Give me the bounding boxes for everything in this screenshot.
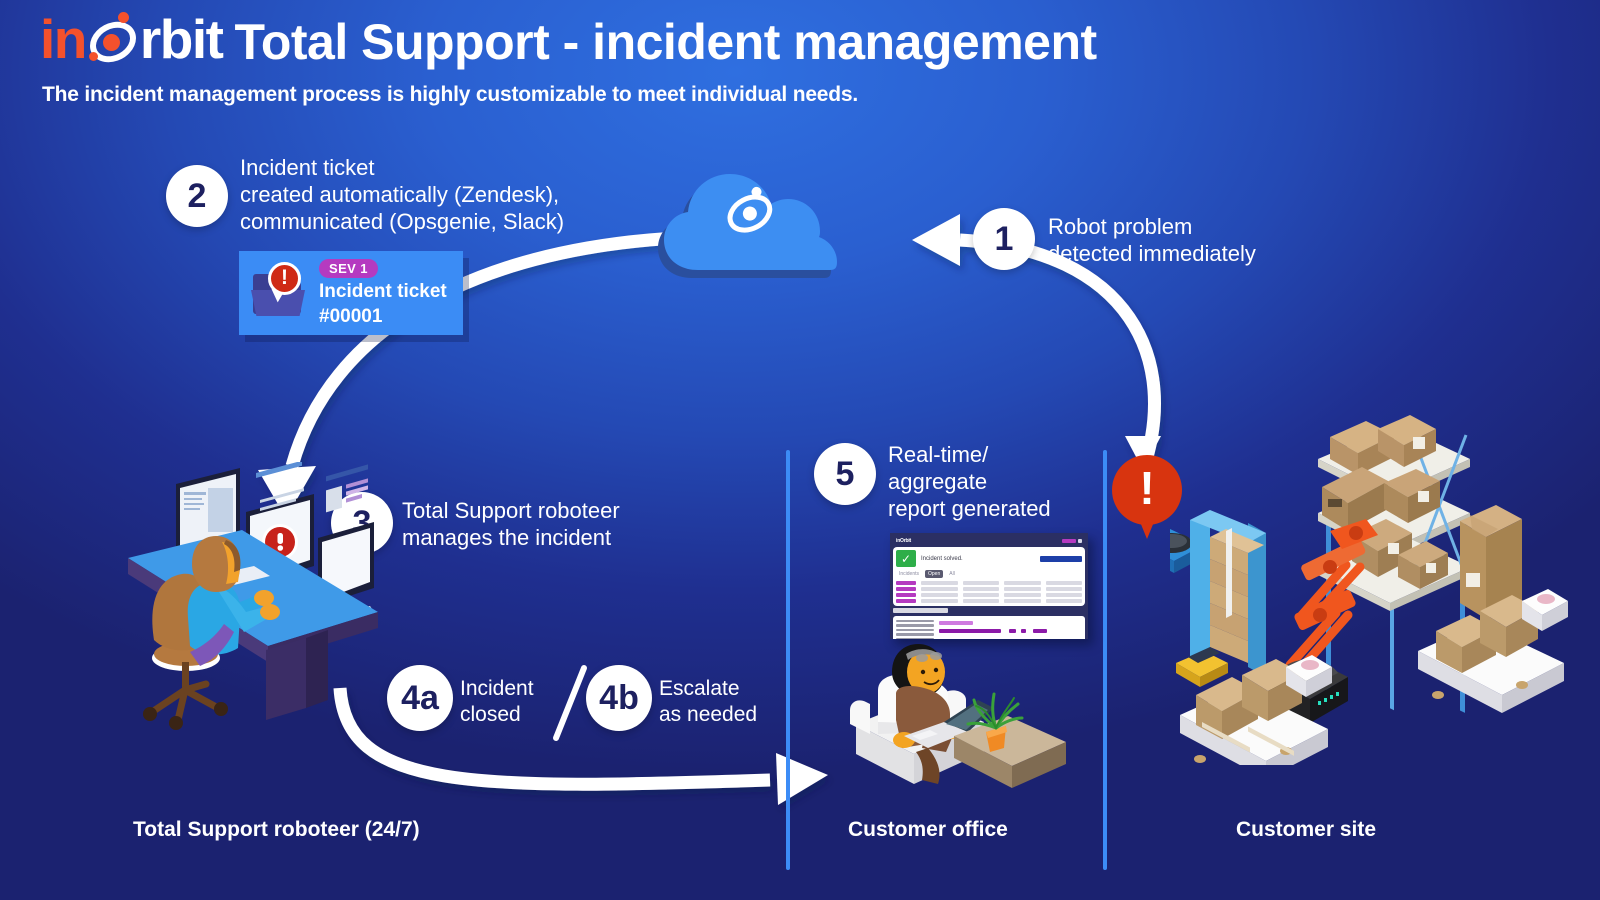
step-text-4a: Incident closed: [460, 676, 534, 727]
severity-badge: SEV 1: [319, 259, 378, 278]
step-badge-4a: 4a: [387, 665, 453, 731]
incident-solved-banner: ✓ Incident solved.: [896, 550, 1082, 567]
step-text-3: Total Support roboteer manages the incid…: [402, 498, 620, 552]
inorbit-logo: in rbit: [40, 12, 223, 67]
legend-row: [896, 620, 934, 623]
row-cell: [1046, 581, 1083, 585]
row-key-cell: [896, 587, 916, 591]
page-title: Total Support - incident management: [235, 17, 1097, 67]
page-subtitle: The incident management process is highl…: [42, 83, 1340, 107]
row-key-cell: [896, 593, 916, 597]
cloud-orbit-mark: [721, 185, 775, 237]
step-text-5: Real-time/ aggregate report generated: [888, 442, 1051, 522]
table-row: [896, 593, 1082, 597]
divider-roboteer-office: [786, 450, 790, 870]
row-key-cell: [896, 581, 916, 585]
amr-right: [1418, 589, 1568, 765]
agv-yellow: [1176, 647, 1228, 687]
row-cell: [1004, 599, 1041, 603]
row-cell: [921, 581, 958, 585]
step-text-2: Incident ticket created automatically (Z…: [240, 155, 564, 235]
report-dashboard-panel[interactable]: inOrbit ✓ Incident solved. Incidents Ope…: [890, 533, 1088, 639]
gantt-bar: [1021, 629, 1026, 633]
row-cell: [963, 593, 1000, 597]
pin-exclamation-glyph: !: [1139, 465, 1154, 511]
gantt-bar: [939, 621, 973, 625]
row-key-cell: [896, 599, 916, 603]
infographic-canvas: in rbit Total Support - incident managem…: [0, 0, 1600, 900]
step-badge-2: 2: [166, 165, 228, 227]
step-number-4b: 4b: [599, 679, 639, 718]
logo-orbit-core: [103, 34, 120, 51]
titlebar-pill-small: [1078, 539, 1082, 543]
row-cell: [1046, 599, 1083, 603]
divider-office-site: [1103, 450, 1107, 870]
tab-all[interactable]: All: [946, 570, 958, 578]
alert-bang-glyph: !: [281, 267, 288, 288]
dashboard-titlebar: inOrbit: [893, 536, 1085, 545]
incident-solved-text: Incident solved.: [921, 556, 1035, 562]
success-check-icon: ✓: [896, 550, 916, 567]
legend-row: [896, 629, 934, 632]
table-row: [896, 581, 1082, 585]
ticket-body: SEV 1 Incident ticket #00001: [319, 259, 447, 327]
dashboard-primary-button[interactable]: [1040, 556, 1082, 562]
logo-row: in rbit Total Support - incident managem…: [40, 12, 1340, 67]
dashboard-tabs: Incidents Open All: [896, 570, 1082, 578]
row-cell: [921, 599, 958, 603]
zone-label-customer-site: Customer site: [1236, 818, 1376, 842]
gantt-bar: [1033, 629, 1047, 633]
dashboard-strip: [893, 608, 948, 613]
incident-folder-icon: !: [251, 262, 309, 324]
step-text-1: Robot problem detected immediately: [1048, 214, 1256, 268]
tab-incidents[interactable]: Incidents: [896, 570, 922, 578]
step-text-4b: Escalate as needed: [659, 676, 757, 727]
header: in rbit Total Support - incident managem…: [40, 12, 1340, 107]
incident-ticket-card[interactable]: ! SEV 1 Incident ticket #00001: [239, 251, 463, 335]
dashboard-table: [896, 581, 1082, 603]
logo-orbit-icon: [86, 12, 140, 67]
step-badge-4b: 4b: [586, 665, 652, 731]
customer-site-illustration: [1170, 415, 1590, 765]
row-cell: [1004, 587, 1041, 591]
gantt-bar: [939, 629, 1001, 633]
dashboard-logo: inOrbit: [896, 538, 911, 544]
zone-label-roboteer: Total Support roboteer (24/7): [133, 818, 420, 842]
ticket-number: #00001: [319, 306, 447, 327]
logo-text-in: in: [40, 8, 86, 70]
table-row: [896, 587, 1082, 591]
alert-exclamation-icon: !: [268, 262, 301, 295]
step-number-4a: 4a: [401, 679, 439, 718]
titlebar-pill: [1062, 539, 1076, 543]
table-row: [896, 599, 1082, 603]
step-number-2: 2: [188, 177, 207, 216]
legend-row: [896, 624, 934, 627]
logo-orbit-dot-bottom: [89, 52, 98, 61]
customer-office-illustration: [826, 636, 1076, 816]
pallet-stack-mast: [1176, 510, 1266, 687]
step-separator-slash: [556, 668, 584, 738]
zone-label-customer-office: Customer office: [848, 818, 1008, 842]
step-badge-5: 5: [814, 443, 876, 505]
cloud-icon: [658, 174, 837, 278]
row-cell: [1004, 581, 1041, 585]
ticket-title: Incident ticket: [319, 281, 447, 302]
row-cell: [1046, 587, 1083, 591]
roboteer-workstation-illustration: [118, 462, 378, 732]
tab-open[interactable]: Open: [925, 570, 943, 578]
dashboard-card: ✓ Incident solved. Incidents Open All: [893, 547, 1085, 606]
row-cell: [1004, 593, 1041, 597]
dashboard-titlebar-pills: [1062, 539, 1082, 543]
logo-text-rbit: rbit: [140, 8, 223, 70]
row-cell: [963, 581, 1000, 585]
row-cell: [1046, 593, 1083, 597]
step-number-5: 5: [836, 455, 855, 494]
row-cell: [921, 593, 958, 597]
step-number-1: 1: [995, 220, 1014, 259]
row-cell: [963, 599, 1000, 603]
logo-orbit-dot-top: [118, 12, 129, 23]
step-badge-1: 1: [973, 208, 1035, 270]
row-cell: [963, 587, 1000, 591]
gantt-bar: [1009, 629, 1016, 633]
row-cell: [921, 587, 958, 591]
